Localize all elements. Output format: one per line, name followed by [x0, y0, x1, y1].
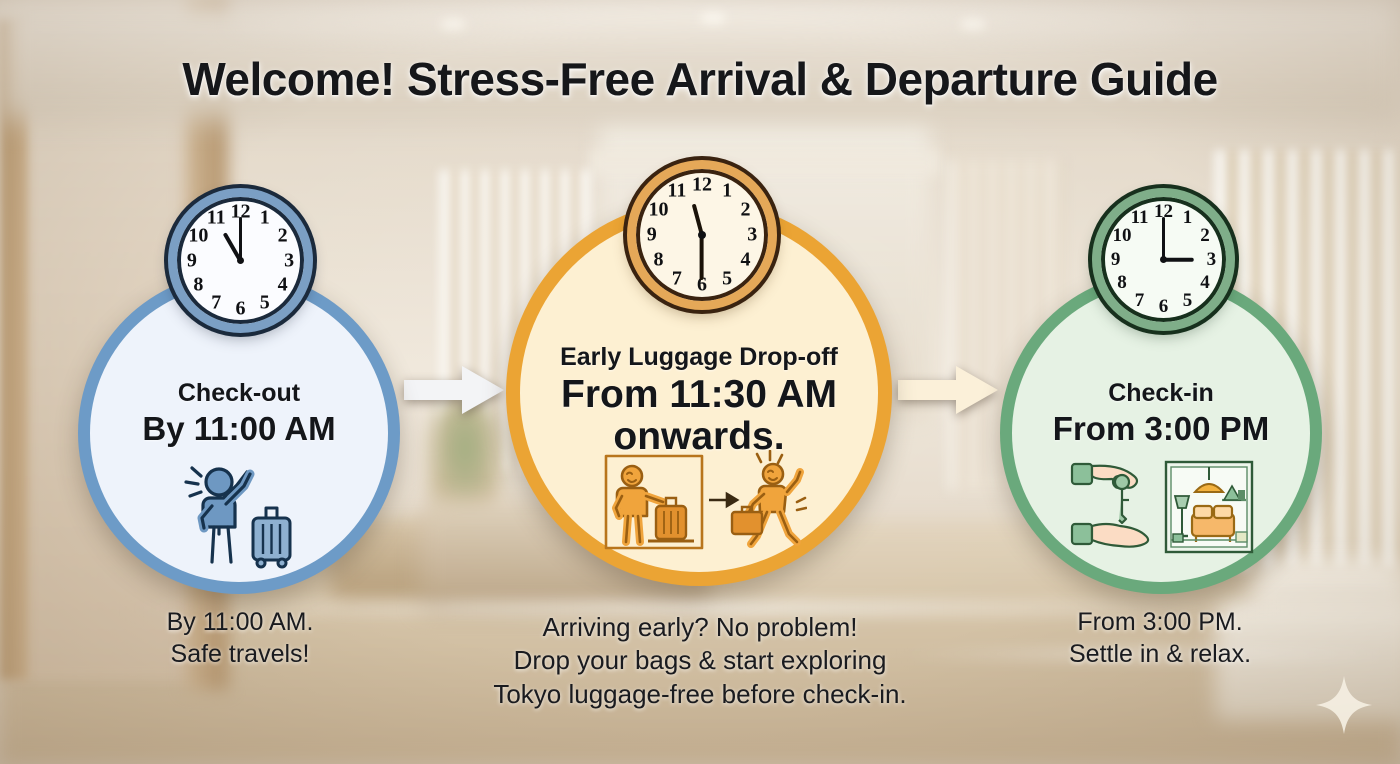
clock-numeral-2: 2 [1200, 225, 1210, 247]
clock-minute-hand [239, 217, 242, 261]
clock-numeral-2: 2 [741, 198, 751, 221]
clock-numeral-3: 3 [284, 249, 294, 272]
clock-numeral-7: 7 [1135, 290, 1145, 312]
caption-checkout: By 11:00 AM. Safe travels! [60, 606, 420, 670]
stage-checkin-label-large: From 3:00 PM [1012, 412, 1310, 447]
clock-numeral-12: 12 [692, 173, 712, 196]
clock-numeral-5: 5 [260, 291, 270, 314]
clock-hour-hand [1163, 257, 1194, 261]
arrow-checkout-to-dropoff [404, 362, 504, 418]
clock-numeral-1: 1 [1183, 207, 1193, 229]
clock-numeral-7: 7 [211, 291, 221, 314]
caption-checkin: From 3:00 PM. Settle in & relax. [1000, 606, 1320, 670]
clock-numeral-11: 11 [1131, 207, 1149, 229]
clock-numeral-8: 8 [653, 249, 663, 272]
clock-checkout: 121234567891011 [168, 188, 313, 333]
clock-minute-hand [700, 235, 704, 280]
stage-checkout-label-large: By 11:00 AM [90, 412, 388, 447]
clock-numeral-10: 10 [648, 198, 668, 221]
clock-numeral-2: 2 [278, 225, 288, 248]
stage-checkin-text: Check-in From 3:00 PM [1012, 380, 1310, 447]
caption-dropoff: Arriving early? No problem! Drop your ba… [430, 611, 970, 711]
traveler-waving-with-suitcase-icon [174, 460, 304, 570]
clock-numeral-3: 3 [1207, 249, 1217, 271]
clock-numeral-1: 1 [722, 180, 732, 203]
clock-numeral-9: 9 [647, 224, 657, 247]
clock-dropoff: 121234567891011 [627, 160, 777, 310]
clock-numeral-4: 4 [741, 249, 751, 272]
clock-numeral-5: 5 [722, 267, 732, 290]
clock-numeral-4: 4 [1200, 272, 1210, 294]
clock-numeral-9: 9 [187, 249, 197, 272]
stage-checkout-label-small: Check-out [90, 380, 388, 406]
clock-numeral-6: 6 [236, 298, 246, 321]
clock-checkin: 121234567891011 [1092, 188, 1235, 331]
stage-checkout-text: Check-out By 11:00 AM [90, 380, 388, 447]
clock-numeral-11: 11 [667, 180, 686, 203]
arrow-dropoff-to-checkin [898, 362, 998, 418]
clock-numeral-1: 1 [260, 207, 270, 230]
clock-numeral-6: 6 [1159, 296, 1169, 318]
stage-dropoff-label-large: From 11:30 AM onwards. [520, 374, 878, 458]
sparkle-icon [1316, 676, 1372, 734]
clock-numeral-11: 11 [207, 207, 226, 230]
clock-numeral-3: 3 [747, 224, 757, 247]
clock-numeral-8: 8 [193, 273, 203, 296]
clock-numeral-4: 4 [278, 273, 288, 296]
clock-numeral-5: 5 [1183, 290, 1193, 312]
clock-minute-hand [1162, 217, 1165, 260]
luggage-dropoff-then-explore-icon [597, 450, 807, 554]
stage-dropoff-label-small: Early Luggage Drop-off [520, 344, 878, 370]
clock-numeral-10: 10 [188, 225, 208, 248]
key-handover-and-room-icon [1070, 456, 1254, 562]
stage-dropoff-text: Early Luggage Drop-off From 11:30 AM onw… [520, 344, 878, 458]
page-title: Welcome! Stress-Free Arrival & Departure… [0, 52, 1400, 106]
clock-numeral-9: 9 [1111, 249, 1121, 271]
clock-numeral-7: 7 [672, 267, 682, 290]
clock-numeral-10: 10 [1113, 225, 1132, 247]
clock-numeral-8: 8 [1117, 272, 1127, 294]
stage-checkin-label-small: Check-in [1012, 380, 1310, 406]
